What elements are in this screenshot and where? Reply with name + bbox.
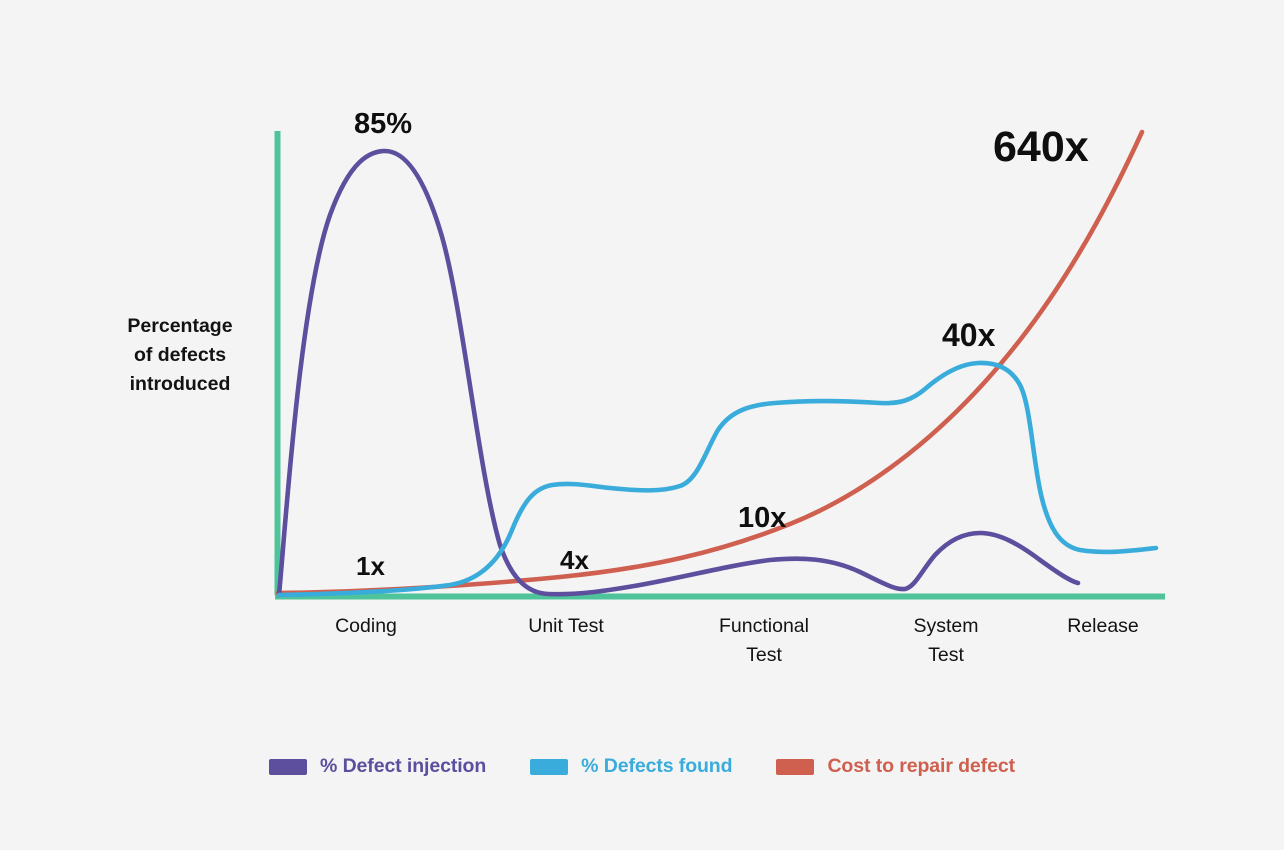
legend-item-cost-to-repair-defect[interactable]: Cost to repair defect	[776, 755, 1015, 778]
annotation-10x: 10x	[738, 502, 786, 535]
x-axis-tick-system-test: System Test	[866, 612, 1026, 670]
chart-container: Percentage of defects introduced Coding …	[0, 0, 1284, 850]
legend-label-defect-injection: % Defect injection	[320, 755, 486, 778]
series-line-defect-injection	[279, 151, 1078, 595]
legend-swatch-icon-defects-found	[530, 759, 568, 775]
legend-label-cost-to-repair-defect: Cost to repair defect	[827, 755, 1015, 778]
series-line-cost-to-repair-defect	[278, 132, 1142, 593]
annotation-640x: 640x	[993, 123, 1089, 172]
annotation-85-percent: 85%	[354, 108, 412, 141]
annotation-40x: 40x	[942, 317, 995, 354]
annotation-4x: 4x	[560, 545, 589, 576]
legend-item-defects-found[interactable]: % Defects found	[530, 755, 732, 778]
legend-label-defects-found: % Defects found	[581, 755, 732, 778]
chart-plot-area	[0, 0, 1284, 850]
legend-item-defect-injection[interactable]: % Defect injection	[269, 755, 486, 778]
annotation-1x: 1x	[356, 551, 385, 582]
x-axis-tick-unit-test: Unit Test	[486, 612, 646, 641]
series-line-defects-found	[279, 363, 1156, 595]
x-axis-tick-release: Release	[1023, 612, 1183, 641]
x-axis-tick-functional-test: Functional Test	[684, 612, 844, 670]
legend-swatch-icon-cost-to-repair-defect	[776, 759, 814, 775]
x-axis-tick-coding: Coding	[286, 612, 446, 641]
y-axis-title: Percentage of defects introduced	[100, 312, 260, 399]
chart-legend: % Defect injection % Defects found Cost …	[0, 755, 1284, 778]
legend-swatch-icon-defect-injection	[269, 759, 307, 775]
